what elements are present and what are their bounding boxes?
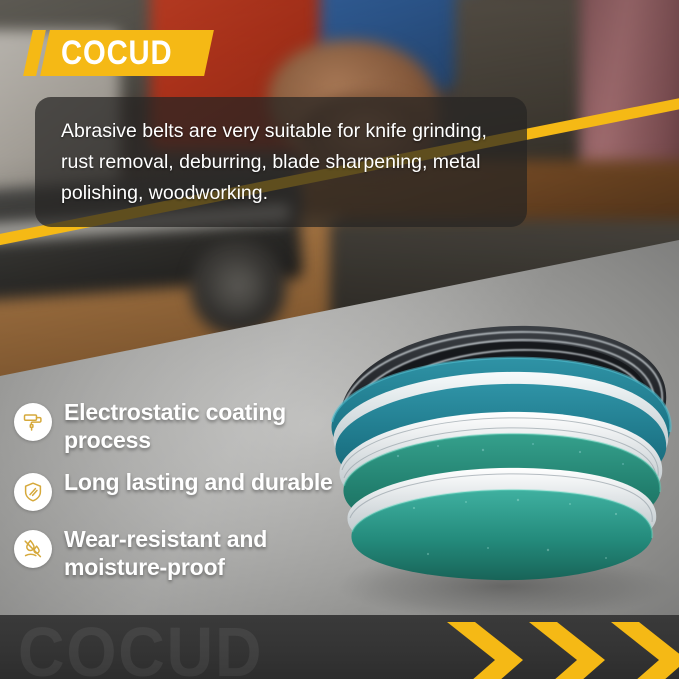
product-marketing-poster: COCUD Abrasive belts are very suitable f… (0, 0, 679, 679)
description-card: Abrasive belts are very suitable for kni… (35, 97, 527, 227)
paint-roller-icon (14, 403, 52, 441)
product-image-abrasive-belt-coil: IZA61 600 (318, 318, 679, 628)
bottom-brand-band: COCUD (0, 615, 679, 679)
feature-item: Wear-resistant and moisture-proof (14, 525, 344, 581)
no-moisture-icon (14, 530, 52, 568)
photo-sander-wheel-hub-shape (214, 264, 262, 312)
feature-label: Wear-resistant and moisture-proof (64, 525, 344, 581)
shield-icon (14, 473, 52, 511)
feature-label: Electrostatic coating process (64, 398, 344, 454)
logo-plate: COCUD (40, 30, 213, 76)
logo-brand-name: COCUD (61, 36, 173, 70)
feature-list: Electrostatic coating process Long lasti… (14, 398, 344, 595)
photo-blue-shirt-shape (320, 0, 480, 90)
description-text: Abrasive belts are very suitable for kni… (35, 116, 527, 209)
feature-item: Long lasting and durable (14, 468, 344, 511)
brand-logo: COCUD (28, 30, 209, 76)
abrasive-belt-coil-illustration: IZA61 600 (318, 318, 679, 628)
feature-item: Electrostatic coating process (14, 398, 344, 454)
feature-label: Long lasting and durable (64, 468, 333, 496)
brand-watermark: COCUD (18, 617, 263, 679)
